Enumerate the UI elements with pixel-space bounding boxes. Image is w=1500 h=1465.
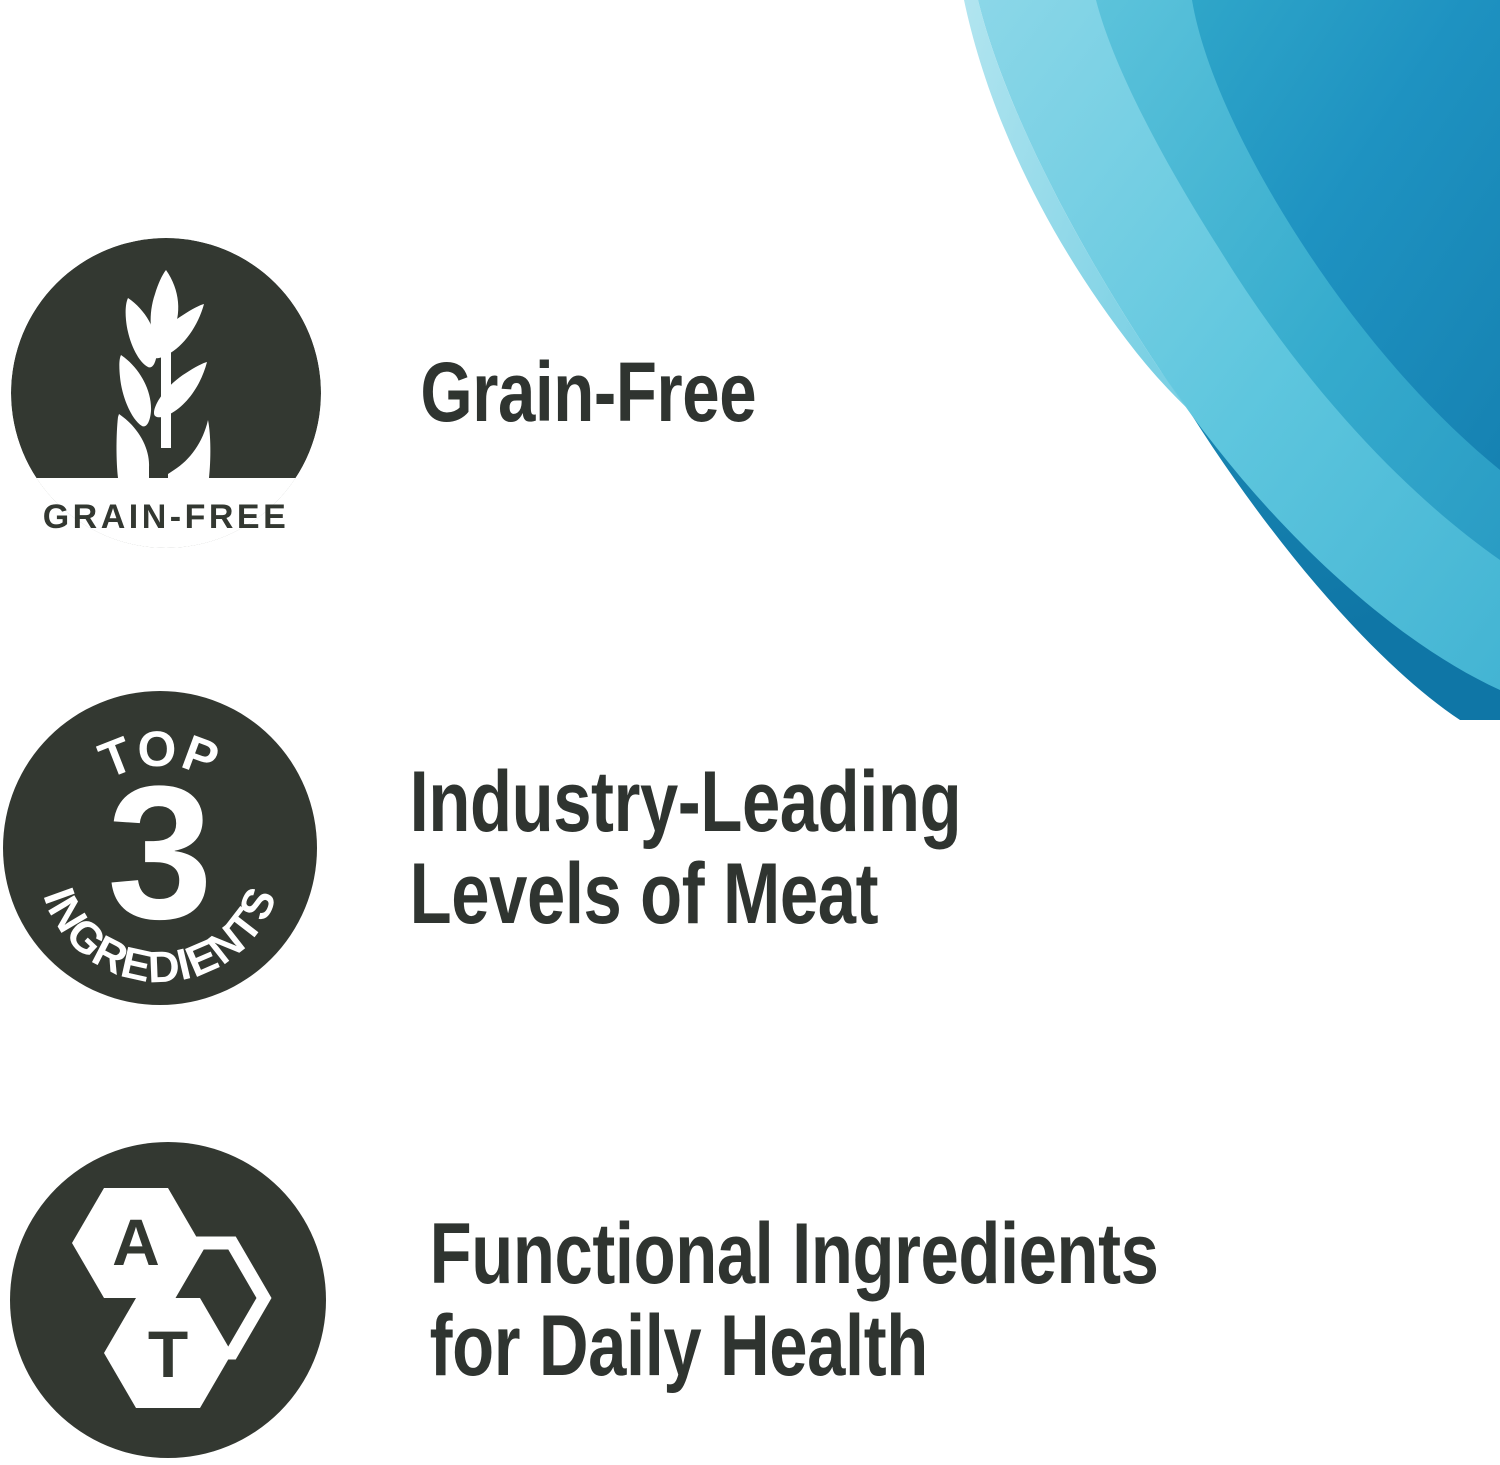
feature-text-grain-free: Grain-Free — [326, 348, 1129, 438]
feature-row-top-3-ingredients: TOP 3 INGREDIENTS Industry-Leading Level… — [0, 690, 1330, 1006]
feature-line: Functional Ingredients — [430, 1208, 1159, 1300]
feature-row-grain-free: GRAIN-FREE Grain-Free — [0, 238, 1330, 548]
feature-text-functional-ingredients: Functional Ingredients for Daily Health — [340, 1208, 1159, 1392]
grain-free-badge-label: GRAIN-FREE — [43, 498, 290, 536]
hexagon-t-label: T — [148, 1317, 188, 1391]
top-3-number: 3 — [107, 747, 213, 959]
feature-line: Grain-Free — [420, 348, 1129, 438]
functional-ingredients-badge: A T — [0, 1140, 340, 1460]
hexagon-a-label: A — [112, 1205, 160, 1279]
grain-free-badge: GRAIN-FREE — [0, 238, 326, 548]
feature-line: for Daily Health — [430, 1300, 1159, 1392]
feature-text-industry-leading: Industry-Leading Levels of Meat — [320, 756, 1128, 940]
feature-line: Industry-Leading — [410, 756, 1128, 848]
feature-row-functional-ingredients: A T Functional Ingredients for Daily Hea… — [0, 1140, 1330, 1460]
top-3-ingredients-badge: TOP 3 INGREDIENTS — [0, 690, 320, 1006]
feature-line: Levels of Meat — [410, 848, 1128, 940]
feature-list: GRAIN-FREE Grain-Free TOP 3 INGREDIENTS — [0, 0, 1500, 1465]
